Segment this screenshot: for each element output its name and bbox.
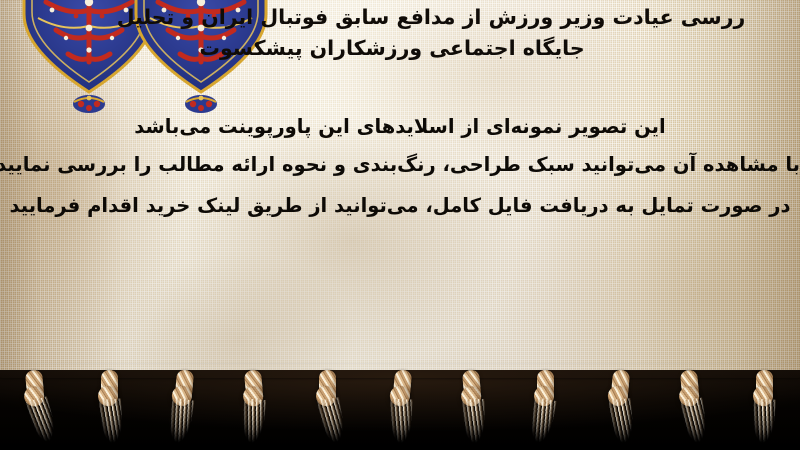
tassel <box>162 365 203 448</box>
tassel <box>453 365 494 448</box>
tassel-thread-brush <box>680 397 708 444</box>
tassel-thread-brush <box>317 397 347 444</box>
tassel-thread-brush <box>240 398 266 444</box>
body-line-1: این تصویر نمونه‌ای از اسلایدهای این پاور… <box>0 108 800 145</box>
tassel <box>529 366 563 446</box>
slide-body: این تصویر نمونه‌ای از اسلایدهای این پاور… <box>0 108 800 227</box>
tassel-thread-brush <box>166 397 194 444</box>
tassel <box>748 366 782 446</box>
carpet-tassel-fringe <box>0 358 800 450</box>
tassel <box>311 366 345 446</box>
tassel <box>671 365 712 448</box>
tassel-thread-brush <box>462 399 485 444</box>
tassel-thread-brush <box>99 398 124 443</box>
slide-canvas: ررسی عیادت وزیر ورزش از مدافع سابق فوتبا… <box>0 0 800 450</box>
title-line-2: جایگاه اجتماعی ورزشکاران پیشکسوت <box>0 33 784 64</box>
body-line-2: با مشاهده آن می‌توانید سبک طراحی، رنگ‌بن… <box>0 145 800 185</box>
tassel-thread-brush <box>26 396 59 444</box>
tassel <box>381 365 422 448</box>
tassel-thread-brush <box>528 397 558 444</box>
tassel-thread-brush <box>609 398 635 444</box>
slide-title: ررسی عیادت وزیر ورزش از مدافع سابق فوتبا… <box>0 2 790 64</box>
tassel <box>599 365 640 448</box>
title-line-1: ررسی عیادت وزیر ورزش از مدافع سابق فوتبا… <box>0 2 800 33</box>
tassel <box>235 365 276 448</box>
tassel <box>93 366 127 446</box>
tassel-thread-brush <box>389 399 412 444</box>
tassel-thread-brush <box>751 398 776 443</box>
body-line-3: در صورت تمایل به دریافت فایل کامل، می‌تو… <box>0 185 800 227</box>
